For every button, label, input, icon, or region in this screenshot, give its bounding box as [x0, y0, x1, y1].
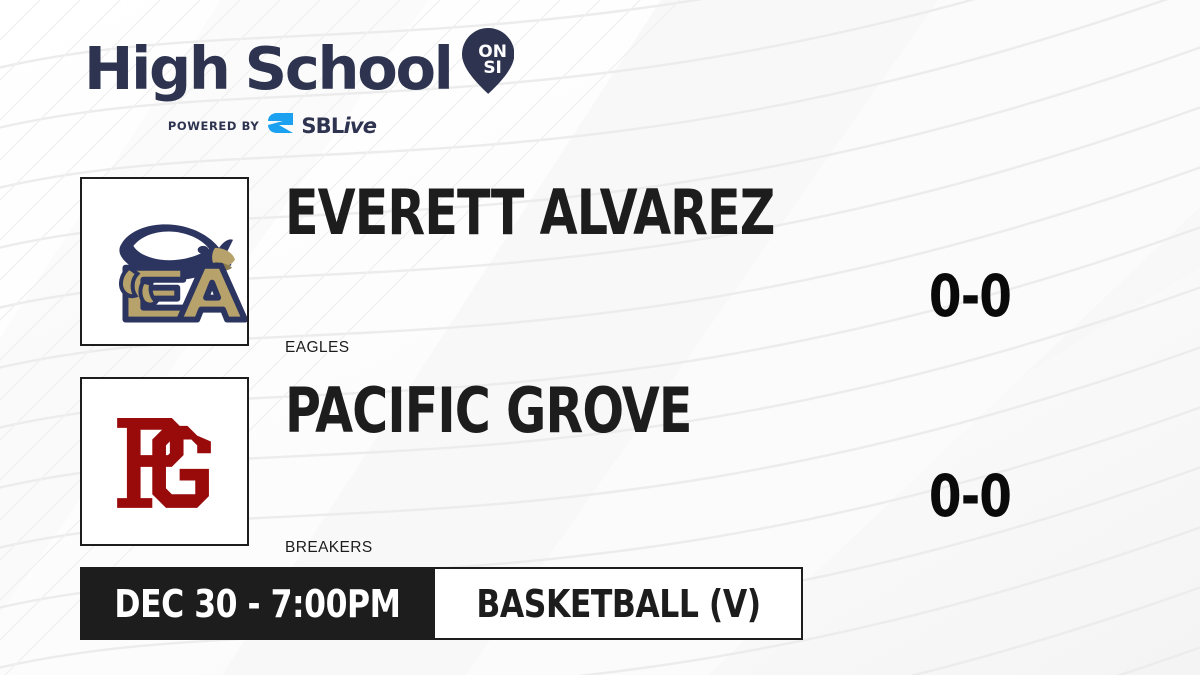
- team-record-pacific-grove: 0-0: [862, 462, 1078, 530]
- game-sport-panel: BASKETBALL (V): [435, 567, 803, 640]
- sblive-bolt-icon: [268, 113, 294, 138]
- team-logo-box-pacific-grove: [80, 377, 249, 546]
- brand-logo-row: High School ON SI: [84, 32, 514, 106]
- team-name-pacific-grove: PACIFIC GROVE: [285, 374, 692, 447]
- on-si-pin-text: ON SI: [462, 44, 524, 76]
- team-mascot-breakers: BREAKERS: [285, 539, 373, 557]
- on-si-pin-icon: ON SI: [462, 28, 514, 106]
- brand-word-school: School: [245, 41, 452, 98]
- game-info-bar: DEC 30 - 7:00PM BASKETBALL (V): [80, 567, 803, 640]
- game-datetime-panel: DEC 30 - 7:00PM: [80, 567, 435, 640]
- game-datetime-text: DEC 30 - 7:00PM: [114, 582, 400, 626]
- sblive-bold-part: SBL: [301, 114, 343, 138]
- sblive-italic-part: ive: [343, 114, 376, 138]
- team-mascot-eagles: EAGLES: [285, 339, 349, 357]
- team-logo-box-everett-alvarez: [80, 177, 249, 346]
- eagle-head-ea-monogram-icon: [82, 179, 247, 344]
- team-name-everett-alvarez: EVERETT ALVAREZ: [285, 176, 774, 249]
- pg-monogram-icon: [82, 379, 247, 544]
- team-record-everett-alvarez: 0-0: [862, 262, 1078, 330]
- sblive-wordmark: SBLive: [301, 114, 376, 138]
- powered-by-label: POWERED BY: [168, 119, 259, 133]
- pin-line-si: SI: [483, 58, 502, 78]
- powered-by-row: POWERED BY SBLive: [88, 113, 456, 138]
- game-sport-text: BASKETBALL (V): [476, 582, 760, 626]
- brand-word-high: High: [84, 41, 229, 98]
- brand-header: High School ON SI POWERED BY SBLive: [84, 32, 514, 138]
